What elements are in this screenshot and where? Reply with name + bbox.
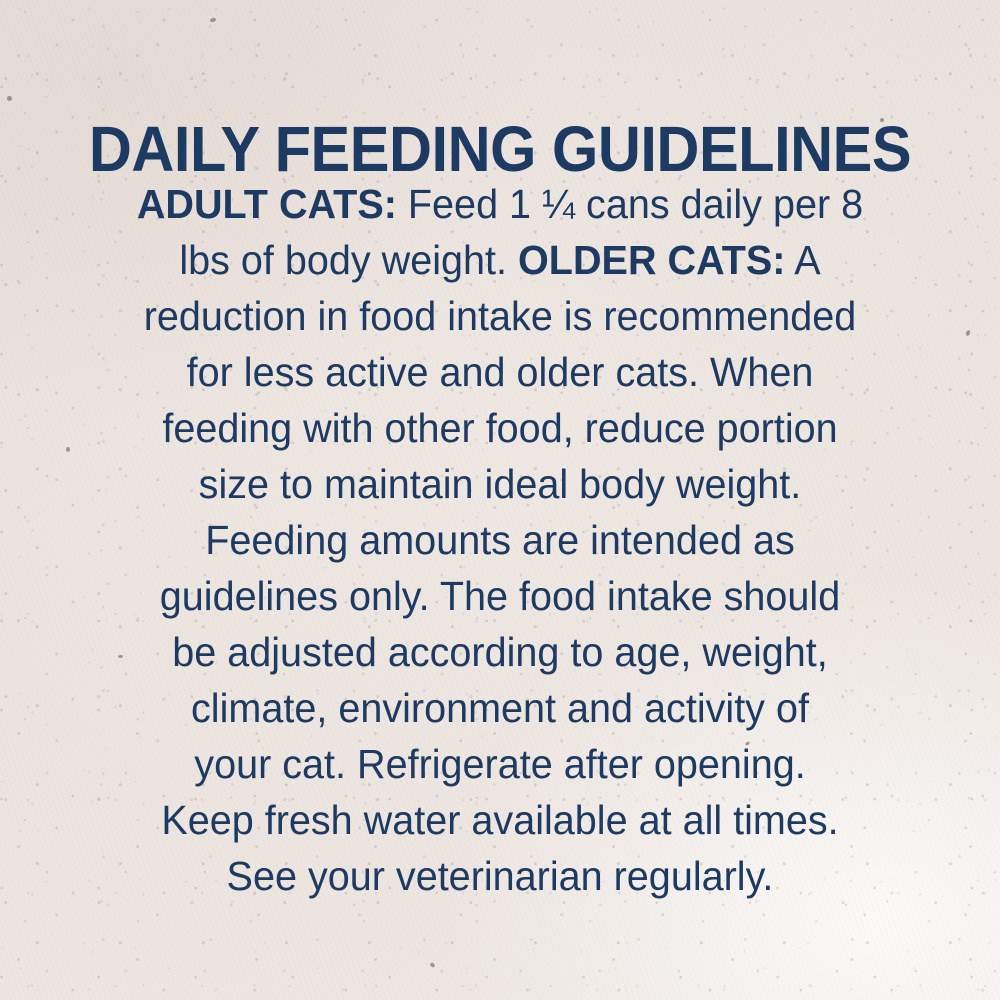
page-title: DAILY FEEDING GUIDELINES xyxy=(35,117,965,181)
instruction-text: climate, environment and activity of xyxy=(191,685,809,731)
instruction-text: Feeding amounts are intended as xyxy=(205,517,794,563)
instruction-line: Feeding amounts are intended as xyxy=(66,512,935,568)
guidelines-content: DAILY FEEDING GUIDELINES ADULT CATS: Fee… xyxy=(0,0,1000,1000)
instruction-text: lbs of body weight. xyxy=(179,237,518,283)
instruction-text: guidelines only. The food intake should xyxy=(160,573,840,619)
instruction-text: be adjusted according to age, weight, xyxy=(172,629,827,675)
instruction-line: lbs of body weight. OLDER CATS: A xyxy=(66,232,935,288)
instruction-label: OLDER CATS: xyxy=(518,237,785,283)
instruction-line: size to maintain ideal body weight. xyxy=(66,456,935,512)
instruction-line: ADULT CATS: Feed 1 ¼ cans daily per 8 xyxy=(66,176,935,232)
instruction-text: feeding with other food, reduce portion xyxy=(162,405,837,451)
instruction-line: Keep fresh water available at all times. xyxy=(66,792,935,848)
instruction-text: Keep fresh water available at all times. xyxy=(161,797,838,843)
instruction-text: your cat. Refrigerate after opening. xyxy=(194,741,805,787)
instruction-line: for less active and older cats. When xyxy=(66,344,935,400)
instruction-text: reduction in food intake is recommended xyxy=(144,293,857,339)
feeding-instructions-text: ADULT CATS: Feed 1 ¼ cans daily per 8lbs… xyxy=(66,176,935,904)
instruction-label: ADULT CATS: xyxy=(137,181,397,227)
instruction-line: be adjusted according to age, weight, xyxy=(66,624,935,680)
instruction-text: for less active and older cats. When xyxy=(187,349,814,395)
instruction-line: guidelines only. The food intake should xyxy=(66,568,935,624)
instruction-text: See your veterinarian regularly. xyxy=(227,853,774,899)
instruction-line: your cat. Refrigerate after opening. xyxy=(66,736,935,792)
instruction-line: climate, environment and activity of xyxy=(66,680,935,736)
feeding-guidelines-panel: DAILY FEEDING GUIDELINES ADULT CATS: Fee… xyxy=(0,0,1000,1000)
instruction-text: Feed 1 ¼ cans daily per 8 xyxy=(397,181,863,227)
instruction-line: See your veterinarian regularly. xyxy=(66,848,935,904)
instruction-line: feeding with other food, reduce portion xyxy=(66,400,935,456)
instruction-line: reduction in food intake is recommended xyxy=(66,288,935,344)
instruction-text: size to maintain ideal body weight. xyxy=(199,461,802,507)
instruction-text: A xyxy=(785,237,820,283)
